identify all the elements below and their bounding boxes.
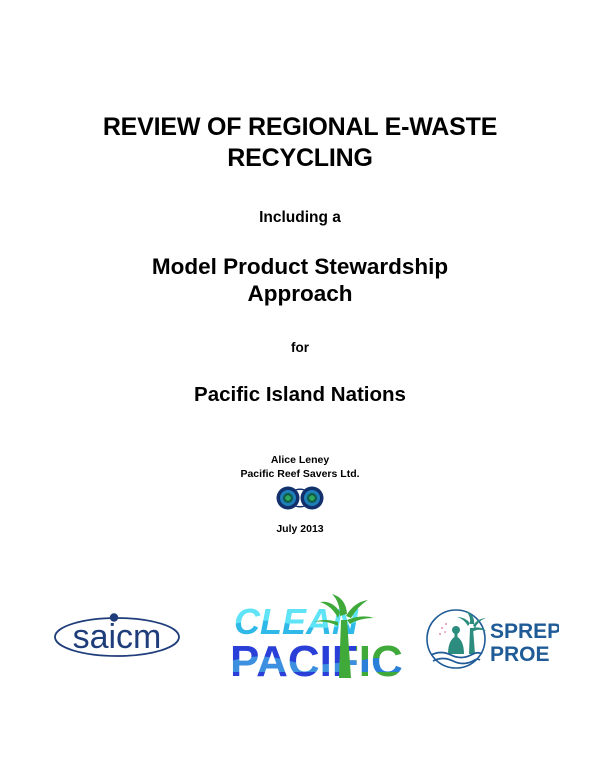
document-subtitle: Model Product Stewardship Approach bbox=[100, 253, 500, 308]
publication-date: July 2013 bbox=[0, 523, 600, 535]
saicm-logo: saicm bbox=[52, 610, 182, 662]
author-block: Alice Leney Pacific Reef Savers Ltd. Jul… bbox=[0, 453, 600, 535]
saicm-wordmark: saicm bbox=[73, 618, 162, 656]
author-name: Alice Leney bbox=[0, 453, 600, 467]
pacific-wordmark bbox=[228, 637, 403, 687]
proe-wordmark: PROE bbox=[490, 643, 550, 666]
sponsor-logo-row: saicm CLEAN PACIFIC bbox=[0, 592, 600, 702]
audience-title: Pacific Island Nations bbox=[0, 383, 600, 407]
author-organisation: Pacific Reef Savers Ltd. bbox=[0, 467, 600, 481]
sprep-wordmark: SPREP bbox=[490, 620, 559, 643]
sprep-proe-logo: SPREP PROE bbox=[424, 606, 559, 676]
cover-page: REVIEW OF REGIONAL E-WASTE RECYCLING Inc… bbox=[0, 0, 600, 776]
sprep-emblem-icon bbox=[427, 610, 486, 668]
title-block: REVIEW OF REGIONAL E-WASTE RECYCLING Inc… bbox=[0, 112, 600, 407]
including-label: Including a bbox=[0, 209, 600, 227]
for-label: for bbox=[0, 340, 600, 355]
page-title: REVIEW OF REGIONAL E-WASTE RECYCLING bbox=[90, 112, 510, 173]
clean-pacific-logo: CLEAN PACIFIC bbox=[228, 592, 403, 687]
pacific-reef-savers-eyes-logo bbox=[270, 485, 330, 511]
